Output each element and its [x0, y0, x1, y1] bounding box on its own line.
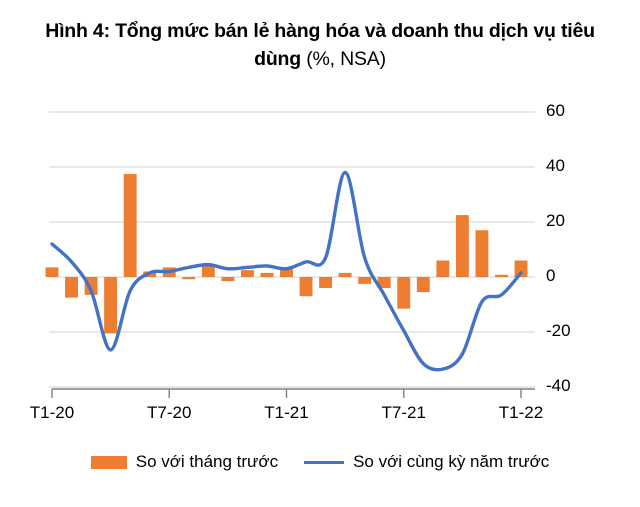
bar: [202, 266, 215, 277]
plot-area: -40-200204060 T1-20T7-20T1-21T7-21T1-22: [0, 0, 640, 440]
bar: [358, 277, 371, 284]
bar: [182, 277, 195, 279]
bar: [241, 270, 254, 277]
bar: [417, 277, 430, 292]
bar: [339, 273, 352, 277]
bar: [124, 174, 137, 277]
bar: [300, 277, 313, 296]
x-axis-tick-label: T7-20: [124, 403, 214, 423]
bar: [221, 277, 234, 281]
y-axis-tick-label: 0: [546, 266, 555, 286]
bar: [456, 215, 469, 277]
bar: [436, 261, 449, 278]
bar-series: [46, 174, 528, 334]
bar: [46, 267, 59, 277]
x-axis: [52, 389, 535, 398]
x-axis-tick-label: T1-20: [7, 403, 97, 423]
legend-item-line: So với cùng kỳ năm trước: [304, 452, 549, 472]
bar: [475, 230, 488, 277]
chart-svg: [0, 0, 640, 440]
y-axis-tick-label: -20: [546, 321, 571, 341]
legend-item-bar: So với tháng trước: [91, 452, 278, 472]
bar: [319, 277, 332, 288]
y-axis-tick-label: 60: [546, 101, 565, 121]
chart-legend: So với tháng trước So với cùng kỳ năm tr…: [0, 452, 640, 472]
legend-label-bar: So với tháng trước: [136, 452, 278, 472]
legend-swatch-line-icon: [304, 461, 344, 464]
bar: [397, 277, 410, 309]
bar: [104, 277, 117, 333]
x-axis-tick-label: T7-21: [359, 403, 449, 423]
bar: [65, 277, 78, 298]
y-axis-tick-label: 40: [546, 156, 565, 176]
y-axis-tick-label: 20: [546, 211, 565, 231]
figure-container: Hình 4: Tổng mức bán lẻ hàng hóa và doan…: [0, 0, 640, 507]
legend-swatch-bar-icon: [91, 456, 127, 469]
bar: [261, 273, 274, 277]
x-axis-tick-label: T1-21: [242, 403, 332, 423]
legend-label-line: So với cùng kỳ năm trước: [353, 452, 549, 472]
bar: [495, 275, 508, 277]
y-axis-tick-label: -40: [546, 376, 571, 396]
x-axis-tick-label: T1-22: [476, 403, 566, 423]
